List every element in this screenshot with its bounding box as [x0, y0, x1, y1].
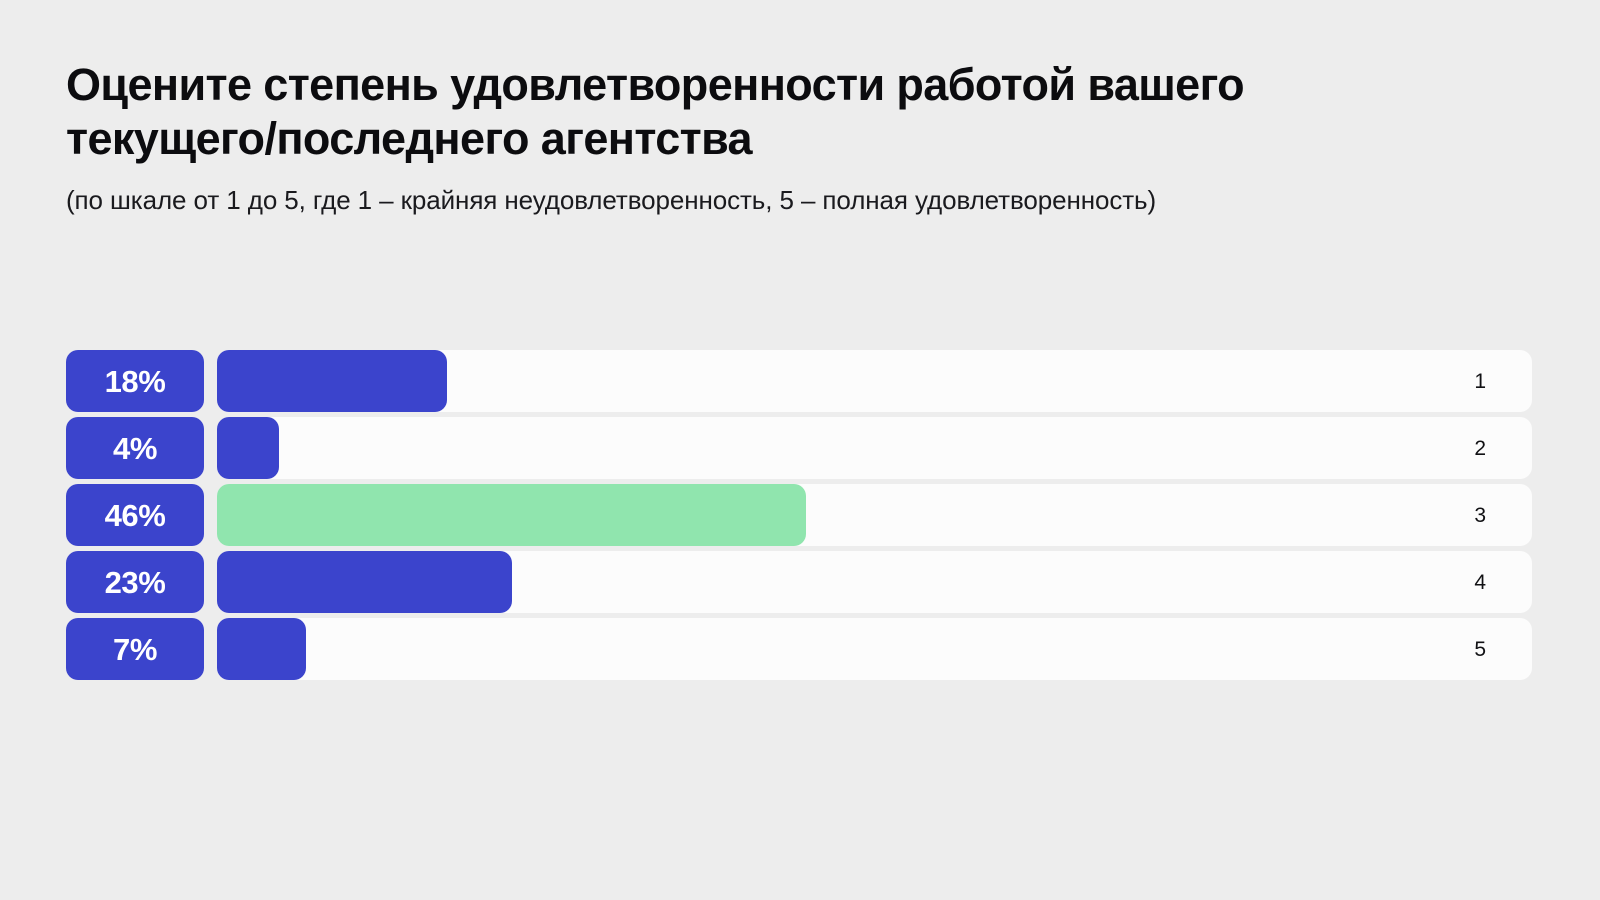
- value-pill: 18%: [66, 350, 204, 412]
- scale-label: 3: [1474, 484, 1486, 546]
- bar-row: 18% 1: [66, 350, 1532, 412]
- bar-fill: [217, 417, 279, 479]
- header: Оцените степень удовлетворенности работо…: [66, 58, 1536, 216]
- bar-fill: [217, 484, 806, 546]
- value-pill: 23%: [66, 551, 204, 613]
- page-title: Оцените степень удовлетворенности работо…: [66, 58, 1446, 166]
- chart-subtitle: (по шкале от 1 до 5, где 1 – крайняя неу…: [66, 184, 1536, 216]
- bar-fill: [217, 350, 447, 412]
- bar-track: 5: [217, 618, 1532, 680]
- value-label: 4%: [113, 433, 157, 464]
- bar-track: 2: [217, 417, 1532, 479]
- bar-row: 46% 3: [66, 484, 1532, 546]
- value-pill: 46%: [66, 484, 204, 546]
- scale-label: 2: [1474, 417, 1486, 479]
- chart-slide: Оцените степень удовлетворенности работо…: [0, 0, 1600, 900]
- bar-track: 1: [217, 350, 1532, 412]
- value-label: 23%: [105, 567, 166, 598]
- value-pill: 4%: [66, 417, 204, 479]
- scale-label: 1: [1474, 350, 1486, 412]
- value-label: 46%: [105, 500, 166, 531]
- scale-label: 4: [1474, 551, 1486, 613]
- value-pill: 7%: [66, 618, 204, 680]
- bar-row: 7% 5: [66, 618, 1532, 680]
- scale-label: 5: [1474, 618, 1486, 680]
- value-label: 18%: [105, 366, 166, 397]
- bar-chart: 18% 1 4% 2 46% 3: [66, 350, 1532, 680]
- bar-fill: [217, 618, 306, 680]
- value-label: 7%: [113, 634, 157, 665]
- bar-row: 23% 4: [66, 551, 1532, 613]
- bar-track: 3: [217, 484, 1532, 546]
- bar-fill: [217, 551, 512, 613]
- bar-row: 4% 2: [66, 417, 1532, 479]
- bar-track: 4: [217, 551, 1532, 613]
